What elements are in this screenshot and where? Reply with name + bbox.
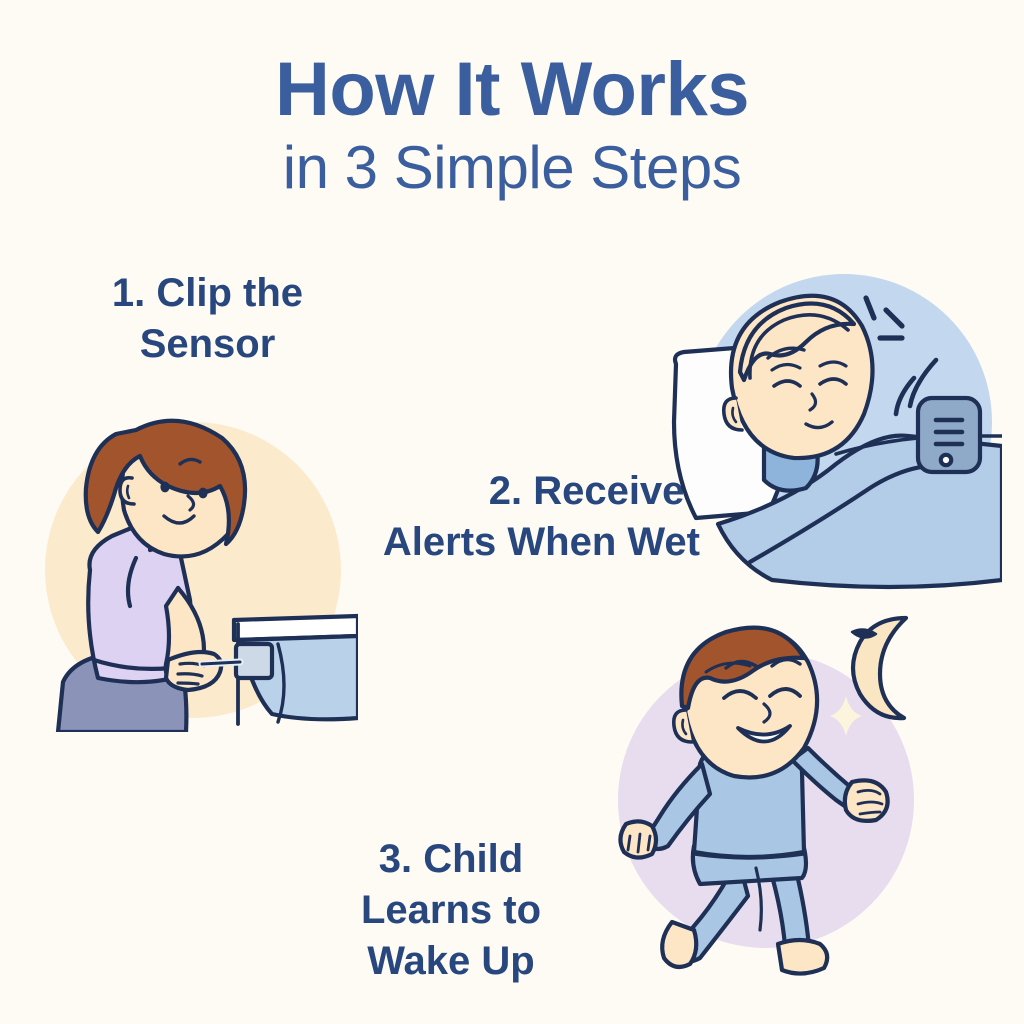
parent-eye-left [160, 482, 169, 493]
parent-eye-right [198, 488, 207, 499]
child-front-foot [778, 940, 827, 974]
step-illustration-3 [588, 600, 988, 1000]
page-title: How It Works in 3 Simple Steps [0, 52, 1024, 198]
headline-secondary: in 3 Simple Steps [0, 138, 1024, 198]
headline-primary: How It Works [0, 52, 1024, 128]
step-illustration-2 [640, 250, 1002, 612]
parent-finger-3 [178, 683, 198, 684]
child-right-fist [845, 780, 888, 821]
moon-dash [852, 629, 876, 637]
step-illustration-1 [28, 392, 358, 732]
child-back-foot [662, 922, 696, 967]
receiver-button [941, 455, 951, 465]
sensor-clip-lead-outline [202, 662, 240, 664]
step-label-3: 3. Child Learns to Wake Up [320, 834, 582, 988]
infographic-root: How It Works in 3 Simple Steps 1. Clip t… [0, 0, 1024, 1024]
step-label-1: 1. Clip the Sensor [70, 268, 345, 370]
